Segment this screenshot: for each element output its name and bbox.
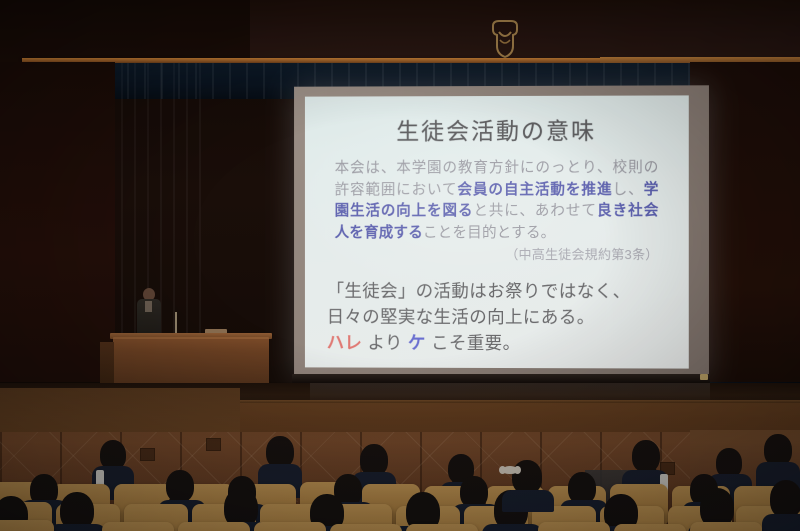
slide-paragraph-run-6: ことを目的とする。 [423, 224, 556, 240]
auditorium-chair[interactable] [102, 522, 174, 531]
presenter-shirt [145, 301, 152, 312]
student-torso [48, 524, 106, 531]
audience-seating [0, 430, 800, 531]
slide-title: 生徒会活動の意味 [305, 111, 689, 146]
podium [113, 337, 269, 389]
slide-conclusion-line-1: 「生徒会」の活動はお祭りではなく、 [327, 278, 671, 304]
student-head [770, 480, 800, 518]
screen-tension-knob [700, 374, 708, 380]
stage-wall-left [0, 62, 115, 382]
auditorium-chair[interactable] [614, 524, 686, 531]
school-crest-icon [487, 18, 523, 60]
student-torso [502, 490, 554, 512]
hair-bow [502, 466, 518, 474]
slide-paragraph-run-4: と共に、あわせて [473, 203, 597, 219]
screen-bottom-bar [292, 374, 710, 383]
projection-screen: 生徒会活動の意味 本会は、本学園の教育方針にのっとり、校則の許容範囲において会員… [294, 85, 709, 378]
student-torso [482, 524, 542, 531]
slide-citation: （中高生徒会規約第3条） [335, 244, 659, 263]
auditorium-chair[interactable] [538, 522, 610, 531]
slide-conclusion: 「生徒会」の活動はお祭りではなく、 日々の堅実な生活の向上にある。 ハレ より … [327, 278, 671, 357]
projection-surface: 生徒会活動の意味 本会は、本学園の教育方針にのっとり、校則の許容範囲において会員… [305, 95, 689, 368]
presentation-slide: 生徒会活動の意味 本会は、本学園の教育方針にのっとり、校則の許容範囲において会員… [305, 95, 689, 368]
auditorium-chair[interactable] [690, 522, 762, 531]
slide-keyword-hare: ハレ [327, 333, 363, 353]
auditorium-chair[interactable] [406, 524, 478, 531]
slide-conclusion-line-2: 日々の堅実な生活の向上にある。 [327, 304, 671, 331]
auditorium-chair[interactable] [178, 522, 250, 531]
slide-keyword-ke: ケ [408, 333, 426, 353]
auditorium-chair[interactable] [330, 524, 402, 531]
auditorium-scene: 生徒会活動の意味 本会は、本学園の教育方針にのっとり、校則の許容範囲において会員… [0, 0, 800, 531]
slide-conclusion-tail: こそ重要。 [426, 333, 521, 353]
auditorium-chair[interactable] [254, 522, 326, 531]
auditorium-chair[interactable] [0, 520, 54, 531]
slide-paragraph: 本会は、本学園の教育方針にのっとり、校則の許容範囲において会員の自主活動を推進し… [335, 158, 659, 244]
podium-side [100, 342, 114, 387]
student-torso [762, 514, 800, 531]
upper-wall-left [0, 0, 250, 62]
slide-conclusion-line-3: ハレ より ケ こそ重要。 [327, 330, 671, 357]
slide-conclusion-connector: より [362, 333, 408, 353]
slide-paragraph-run-2: し、 [613, 181, 644, 197]
slide-paragraph-run-1: 会員の自主活動を推進 [457, 181, 612, 197]
